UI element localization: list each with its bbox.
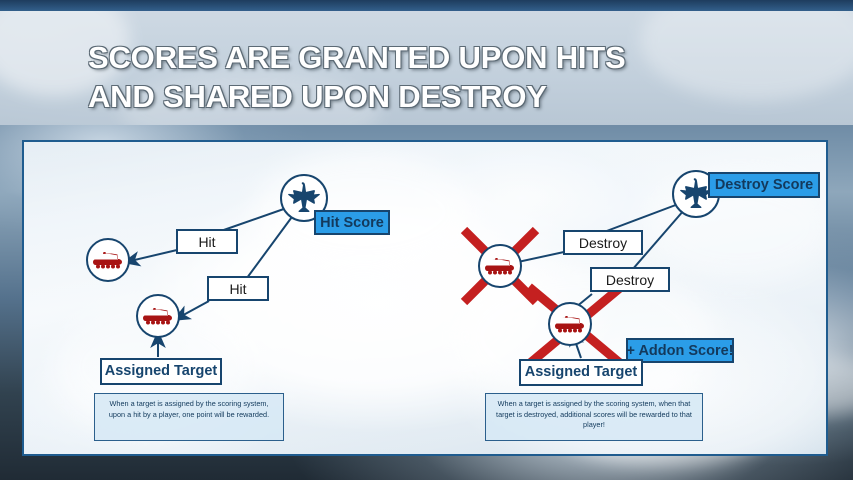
assigned-target-label-right: Assigned Target	[519, 359, 643, 386]
tank-icon	[92, 250, 124, 271]
page-title: SCORES ARE GRANTED UPON HITS AND SHARED …	[88, 38, 808, 116]
slide-root: SCORES ARE GRANTED UPON HITS AND SHARED …	[0, 0, 853, 480]
edge-hit2-to-target2	[176, 301, 209, 319]
caption-right: When a target is assigned by the scoring…	[485, 393, 703, 441]
target-circle-left-2[interactable]	[136, 294, 180, 338]
diagram-panel: Hit Score Hit Hit Assigned Target When a	[22, 140, 828, 456]
top-accent-strip	[0, 0, 853, 11]
tank-icon	[142, 306, 174, 327]
tank-icon-destroyed	[484, 256, 516, 277]
hit-score-badge[interactable]: Hit Score	[314, 210, 390, 235]
target-circle-left-1[interactable]	[86, 238, 130, 282]
edge-hit1-to-target1	[126, 250, 177, 262]
caption-left: When a target is assigned by the scoring…	[94, 393, 284, 441]
edge-label-destroy-2: Destroy	[590, 267, 670, 292]
edge-label-hit-1: Hit	[176, 229, 238, 254]
edge-label-destroy-1: Destroy	[563, 230, 643, 255]
target-circle-right-1[interactable]	[478, 244, 522, 288]
tank-icon-destroyed	[554, 314, 586, 335]
destroy-score-badge[interactable]: Destroy Score	[708, 172, 820, 198]
target-circle-right-2[interactable]	[548, 302, 592, 346]
edge-label-hit-2: Hit	[207, 276, 269, 301]
assigned-target-label-left: Assigned Target	[100, 358, 222, 385]
header-band: SCORES ARE GRANTED UPON HITS AND SHARED …	[0, 11, 853, 125]
